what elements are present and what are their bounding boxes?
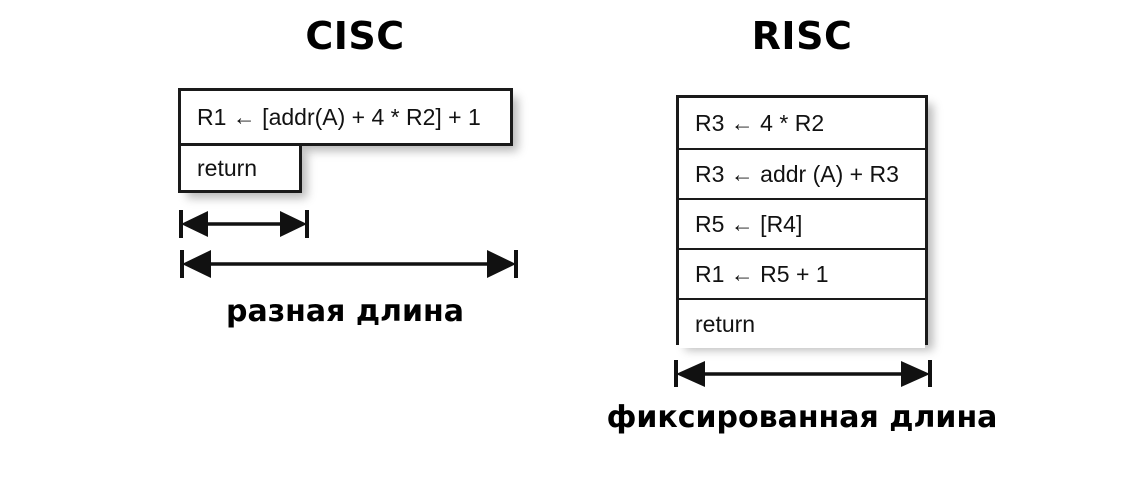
- cisc-title: CISC: [195, 14, 515, 58]
- cisc-instruction-1: R1 ← [addr(A) + 4 * R2] + 1: [181, 91, 510, 143]
- risc-title: RISC: [676, 14, 928, 58]
- long-length-arrow-graphic: [177, 246, 521, 282]
- risc-instruction-1: R3 ← 4 * R2: [679, 98, 925, 148]
- risc-instruction-3: R5 ← [R4]: [679, 198, 925, 248]
- short-length-arrow-graphic: [176, 206, 312, 242]
- long-length-arrow: [177, 246, 521, 282]
- diagram-canvas: CISC R1 ← [addr(A) + 4 * R2] + 1 return …: [0, 0, 1127, 480]
- risc-instruction-2: R3 ← addr (A) + R3: [679, 148, 925, 198]
- cisc-caption: разная длина: [145, 294, 545, 329]
- risc-instruction-return: return: [679, 298, 925, 348]
- risc-instruction-box: R3 ← 4 * R2 R3 ← addr (A) + R3 R5 ← [R4]…: [676, 95, 928, 345]
- risc-caption: фиксированная длина: [602, 400, 1002, 435]
- cisc-instruction-box-long: R1 ← [addr(A) + 4 * R2] + 1: [178, 88, 513, 146]
- cisc-instruction-box-return: return: [178, 143, 302, 193]
- fixed-length-arrow: [671, 357, 935, 391]
- fixed-length-arrow-graphic: [671, 357, 935, 391]
- short-length-arrow: [176, 206, 312, 242]
- risc-instruction-4: R1 ← R5 + 1: [679, 248, 925, 298]
- cisc-instruction-return: return: [181, 146, 299, 190]
